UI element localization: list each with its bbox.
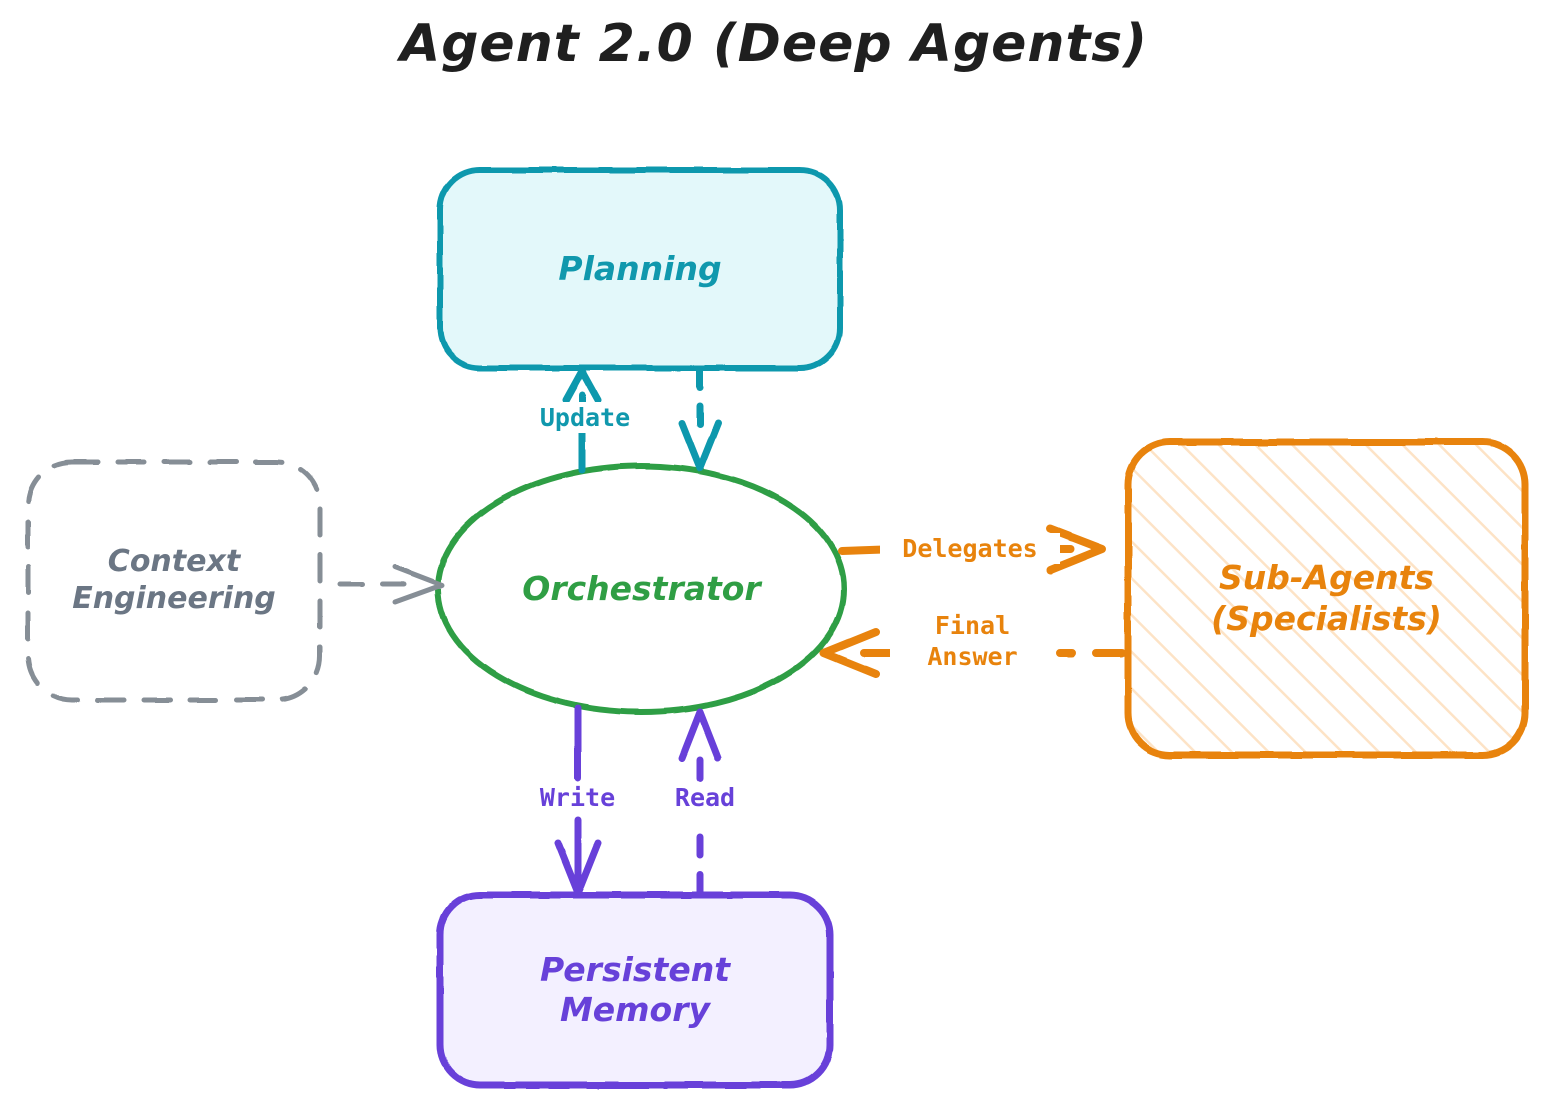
persistent-memory-node-shape[interactable]	[440, 895, 830, 1085]
edge-write	[558, 708, 598, 893]
context-engineering-node-shape[interactable]	[28, 462, 320, 700]
edge-delegates	[842, 529, 1102, 570]
edge-update	[566, 371, 598, 470]
orchestrator-node-shape[interactable]	[438, 466, 844, 712]
diagram-graphics	[0, 0, 1548, 1114]
edge-planning-to-orchestrator	[682, 370, 718, 468]
diagram-canvas: Agent 2.0 (Deep Agents)	[0, 0, 1548, 1114]
edge-read	[682, 712, 718, 893]
planning-node-shape[interactable]	[440, 170, 840, 368]
sub-agents-node-shape[interactable]	[1128, 442, 1525, 755]
edge-final-answer	[824, 632, 1122, 674]
edge-context-to-orchestrator	[340, 567, 442, 602]
